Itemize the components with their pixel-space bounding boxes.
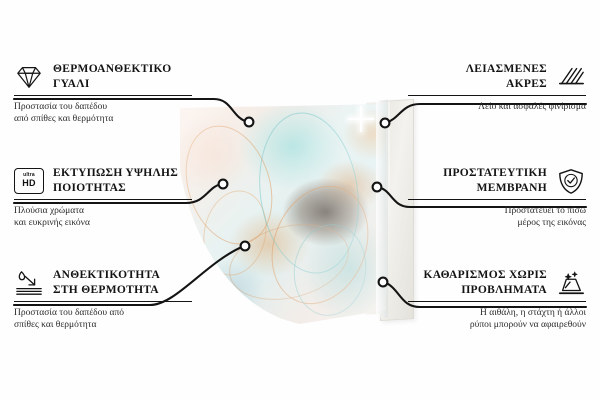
feature-head: ΠΡΟΣΤΑΤΕΥΤΙΚΗ ΜΕΜΒΡΑΝΗ	[336, 166, 586, 195]
feature-title: ΠΡΟΣΤΑΤΕΥΤΙΚΗ ΜΕΜΒΡΑΝΗ	[443, 166, 547, 195]
feature-subtitle: Πλούσια χρώματα και ευκρινής εικόνα	[14, 205, 264, 229]
feature-subtitle: Λείο και ασφαλές φινίρισμα	[336, 101, 586, 113]
shield-check-icon	[556, 167, 586, 195]
feature-subtitle: Προστατεύει το πίσω μέρος της εικόνας	[336, 205, 586, 229]
feature-subtitle: Προστασία του δαπέδου από σπίθες και θερ…	[14, 307, 264, 331]
feature-head: ΚΑΘΑΡΙΣΜΟΣ ΧΩΡΙΣ ΠΡΟΒΛΗΜΑΤΑ	[336, 268, 586, 297]
ultra-hd-bottom-label: HD	[22, 179, 35, 188]
feature-divider	[408, 301, 586, 302]
feature-heat-durability: ΑΝΘΕΚΤΙΚΟΤΗΤΑ ΣΤΗ ΘΕΡΜΟΤΗΤΑ Προστασία το…	[14, 268, 264, 331]
polished-edges-icon	[556, 63, 586, 91]
diamond-icon	[14, 63, 44, 91]
ultra-hd-icon: ultra HD	[14, 168, 44, 194]
feature-head: ultra HD ΕΚΤΥΠΩΣΗ ΥΨΗΛΗΣ ΠΟΙΟΤΗΤΑΣ	[14, 166, 264, 195]
feature-subtitle: Προστασία του δαπέδου από σπίθες και θερ…	[14, 101, 264, 125]
feature-subtitle: Η αιθάλη, η στάχτη ή άλλοι ρύποι μπορούν…	[336, 307, 586, 331]
feature-head: ΛΕΙΑΣΜΕΝΕΣ ΑΚΡΕΣ	[336, 62, 586, 91]
feature-head: ΑΝΘΕΚΤΙΚΟΤΗΤΑ ΣΤΗ ΘΕΡΜΟΤΗΤΑ	[14, 268, 264, 297]
feature-easy-cleaning: ΚΑΘΑΡΙΣΜΟΣ ΧΩΡΙΣ ΠΡΟΒΛΗΜΑΤΑ Η αιθάλη, η …	[336, 268, 586, 331]
feature-heat-resistant-glass: ΘΕΡΜΟΑΝΘΕΚΤΙΚΟ ΓΥΑΛΙ Προστασία του δαπέδ…	[14, 62, 264, 125]
heat-resistance-icon	[14, 269, 44, 297]
feature-divider	[14, 199, 192, 200]
feature-high-quality-print: ultra HD ΕΚΤΥΠΩΣΗ ΥΨΗΛΗΣ ΠΟΙΟΤΗΤΑΣ Πλούσ…	[14, 166, 264, 229]
feature-polished-edges: ΛΕΙΑΣΜΕΝΕΣ ΑΚΡΕΣ Λείο και ασφαλές φινίρι…	[336, 62, 586, 113]
feature-divider	[408, 199, 586, 200]
feature-divider	[14, 95, 192, 96]
infographic-canvas: ΘΕΡΜΟΑΝΘΕΚΤΙΚΟ ΓΥΑΛΙ Προστασία του δαπέδ…	[0, 0, 600, 400]
easy-clean-icon	[556, 269, 586, 297]
feature-title: ΘΕΡΜΟΑΝΘΕΚΤΙΚΟ ΓΥΑΛΙ	[53, 62, 172, 91]
feature-divider	[14, 301, 192, 302]
feature-title: ΛΕΙΑΣΜΕΝΕΣ ΑΚΡΕΣ	[466, 62, 547, 91]
feature-title: ΑΝΘΕΚΤΙΚΟΤΗΤΑ ΣΤΗ ΘΕΡΜΟΤΗΤΑ	[53, 268, 160, 297]
feature-divider	[408, 95, 586, 96]
feature-head: ΘΕΡΜΟΑΝΘΕΚΤΙΚΟ ΓΥΑΛΙ	[14, 62, 264, 91]
feature-protective-membrane: ΠΡΟΣΤΑΤΕΥΤΙΚΗ ΜΕΜΒΡΑΝΗ Προστατεύει το πί…	[336, 166, 586, 229]
feature-title: ΕΚΤΥΠΩΣΗ ΥΨΗΛΗΣ ΠΟΙΟΤΗΤΑΣ	[53, 166, 178, 195]
feature-title: ΚΑΘΑΡΙΣΜΟΣ ΧΩΡΙΣ ΠΡΟΒΛΗΜΑΤΑ	[423, 268, 547, 297]
